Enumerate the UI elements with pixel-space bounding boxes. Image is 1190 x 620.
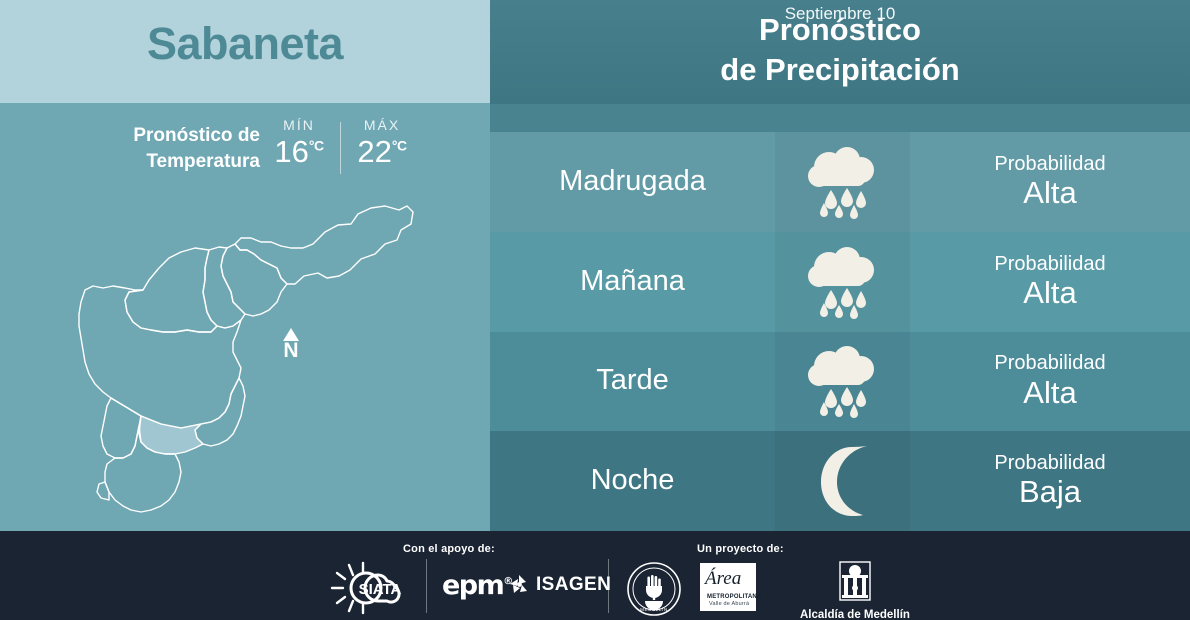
epm-text: epm: [442, 570, 503, 601]
medellin-seal-text: MEDELLÍN: [640, 606, 668, 612]
forecast-date: Septiembre 10: [490, 2, 1190, 26]
forecast-row-madrugada: Madrugada: [490, 132, 1190, 232]
probability-label: Probabilidad: [910, 452, 1190, 474]
siata-logo-icon: SIATA: [330, 560, 424, 616]
forecast-row-icon-cell: [775, 431, 910, 531]
forecast-row-probability: Probabilidad Alta: [910, 352, 1190, 410]
temperature-min: MÍN 16°C: [268, 118, 330, 169]
temperature-heading: Pronóstico de Temperatura: [60, 123, 260, 174]
left-panel: Sabaneta Pronóstico de Temperatura MÍN 1…: [0, 0, 490, 531]
temperature-max-unit: °C: [392, 138, 407, 154]
footer-divider: [426, 559, 427, 613]
forecast-row-icon-cell: [775, 232, 910, 332]
support-caption: Con el apoyo de:: [403, 543, 495, 555]
rain-cloud-icon: [795, 242, 891, 322]
probability-label: Probabilidad: [910, 253, 1190, 275]
alcaldia-crest-icon: [835, 560, 875, 604]
temperature-min-unit: °C: [309, 138, 324, 154]
medellin-seal-icon: MEDELLÍN: [626, 561, 682, 617]
probability-level: Baja: [910, 475, 1190, 510]
medellin-seal-logo: MEDELLÍN: [626, 561, 682, 620]
temperature-max-value: 22°C: [351, 136, 413, 169]
compass-rose: N: [276, 328, 306, 362]
rain-cloud-icon: [795, 142, 891, 222]
forecast-panel: Pronóstico de Precipitación Septiembre 1…: [490, 0, 1190, 531]
forecast-row-probability: Probabilidad Alta: [910, 253, 1190, 311]
isagen-mark-icon: [508, 573, 532, 595]
forecast-row-tarde: Tarde: [490, 332, 1190, 432]
probability-level: Alta: [910, 176, 1190, 211]
isagen-wordmark: ISAGEN: [536, 575, 611, 594]
siata-wordmark: SIATA: [359, 581, 402, 598]
forecast-rows: Madrugada: [490, 132, 1190, 531]
temperature-block: Pronóstico de Temperatura MÍN 16°C MÁX 2…: [0, 118, 490, 186]
forecast-title-line2: de Precipitación: [720, 52, 959, 87]
temperature-min-value: 16°C: [268, 136, 330, 169]
probability-level: Alta: [910, 376, 1190, 411]
aburra-valley-map: [55, 180, 455, 525]
forecast-row-icon-cell: [775, 332, 910, 432]
rain-cloud-icon: [795, 341, 891, 421]
weather-forecast-poster: Sabaneta Pronóstico de Temperatura MÍN 1…: [0, 0, 1190, 620]
forecast-row-time: Madrugada: [490, 166, 775, 198]
epm-logo: epm®: [442, 572, 513, 599]
forecast-row-time: Tarde: [490, 365, 775, 397]
moon-icon: [803, 441, 883, 521]
page-title: Sabaneta: [0, 17, 490, 71]
probability-label: Probabilidad: [910, 153, 1190, 175]
temperature-divider: [340, 122, 341, 174]
alcaldia-medellin-logo: Alcaldía de Medellín: [800, 560, 910, 620]
forecast-row-icon-cell: [775, 132, 910, 232]
temperature-max: MÁX 22°C: [351, 118, 413, 169]
probability-label: Probabilidad: [910, 352, 1190, 374]
isagen-logo: ISAGEN: [508, 573, 611, 595]
temperature-values: MÍN 16°C MÁX 22°C: [268, 118, 413, 174]
probability-level: Alta: [910, 276, 1190, 311]
forecast-row-time: Noche: [490, 465, 775, 497]
siata-logo: SIATA: [330, 560, 424, 620]
project-caption: Un proyecto de:: [697, 543, 784, 555]
forecast-row-probability: Probabilidad Alta: [910, 153, 1190, 211]
forecast-row-time: Mañana: [490, 266, 775, 298]
temperature-heading-line1: Pronóstico de: [133, 125, 260, 146]
area-metropolitana-logo: Área METROPOLITANA Valle de Aburrá: [700, 563, 756, 611]
area-valle-label: Valle de Aburrá: [709, 601, 749, 607]
temperature-heading-line2: Temperatura: [146, 151, 260, 172]
forecast-row-probability: Probabilidad Baja: [910, 452, 1190, 510]
epm-wordmark: epm®: [442, 572, 513, 599]
area-metropolitana-label: METROPOLITANA: [707, 594, 762, 600]
temperature-min-number: 16: [274, 134, 308, 169]
forecast-row-noche: Noche Probabilidad Baja: [490, 431, 1190, 531]
temperature-max-number: 22: [357, 134, 391, 169]
forecast-row-manana: Mañana: [490, 232, 1190, 332]
compass-north-label: N: [276, 340, 306, 362]
map-svg: [55, 180, 455, 525]
forecast-date-band: [490, 104, 1190, 132]
area-script-wordmark: Área: [705, 569, 741, 588]
alcaldia-wordmark: Alcaldía de Medellín: [800, 609, 910, 620]
